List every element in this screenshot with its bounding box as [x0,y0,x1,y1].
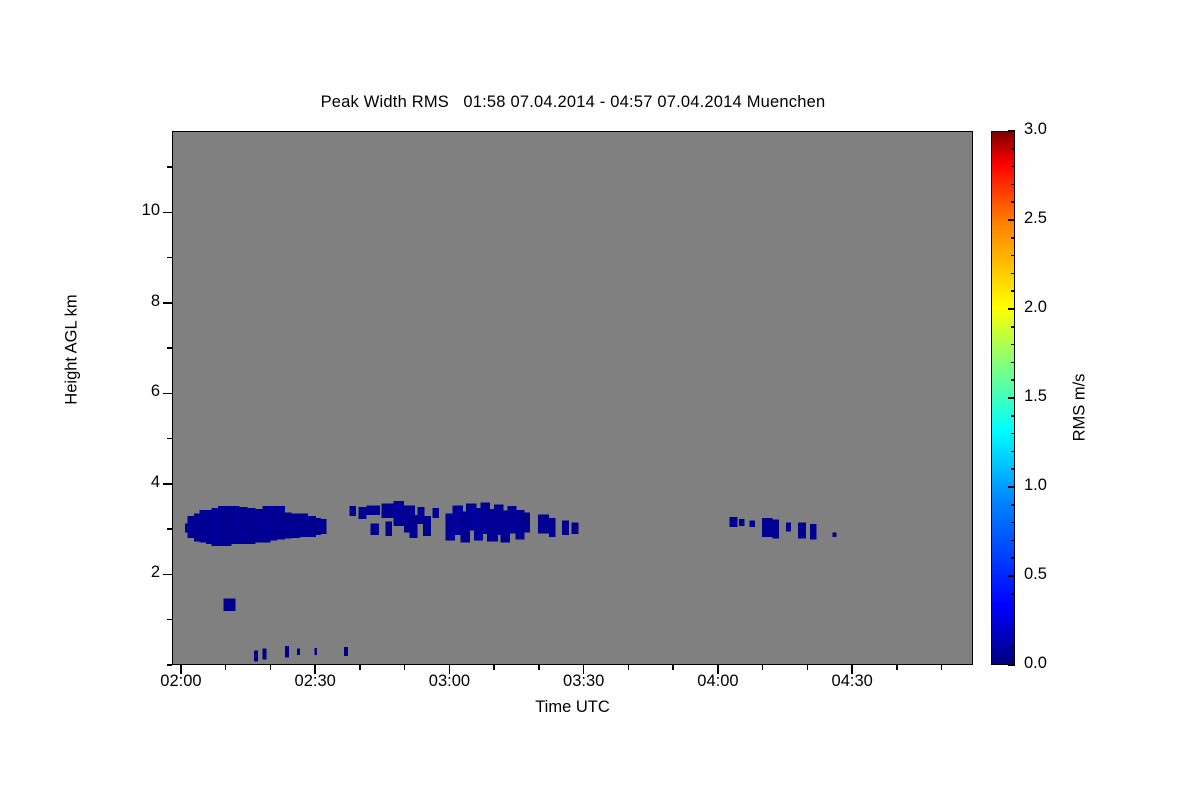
heatmap-cell [297,649,300,655]
y-tick-major [163,212,172,214]
x-tick-label: 02:00 [136,672,226,691]
colorbar-tick-minor [1011,593,1015,595]
heatmap-cell [762,518,773,537]
colorbar-tick-minor [1011,362,1015,364]
colorbar-tick-minor [1011,273,1015,275]
heatmap-data-layer [173,132,972,664]
x-tick-minor [359,665,361,670]
x-tick-minor [672,665,674,670]
colorbar-tick-minor [1011,646,1015,648]
heatmap-cell [423,516,431,536]
colorbar-tick-minor [1011,611,1015,613]
y-tick-label: 8 [100,292,160,311]
colorbar-tick-minor [1011,290,1015,292]
heatmap-cell [507,506,516,533]
colorbar-tick-major [1008,308,1015,310]
colorbar-tick-label: 1.5 [1024,387,1047,406]
heatmap-cell [344,647,348,656]
y-tick-minor [167,664,172,666]
y-tick-minor [167,166,172,168]
colorbar-tick-label: 3.0 [1024,120,1047,139]
y-tick-minor [167,347,172,349]
heatmap-cell [349,506,356,516]
y-tick-label: 6 [100,382,160,401]
y-tick-label: 10 [100,201,160,220]
heatmap-cell [572,522,579,534]
y-tick-minor [167,257,172,259]
y-axis-label: Height AGL km [63,240,82,460]
plot-area [172,131,973,665]
x-tick-minor [807,665,809,670]
x-tick-minor [493,665,495,670]
heatmap-cell [262,649,266,660]
colorbar-tick-minor [1011,201,1015,203]
x-tick-minor [628,665,630,670]
page-title: Peak Width RMS 01:58 07.04.2014 - 04:57 … [0,93,1146,112]
colorbar-tick-minor [1011,629,1015,631]
heatmap-cell [359,507,367,519]
x-tick-minor [941,665,943,670]
x-tick-label: 03:30 [539,672,629,691]
x-tick-label: 04:00 [673,672,763,691]
x-axis-label: Time UTC [172,698,973,717]
x-tick-label: 02:30 [270,672,360,691]
heatmap-cell [432,508,439,518]
figure-canvas: Peak Width RMS 01:58 07.04.2014 - 04:57 … [0,0,1200,800]
colorbar-tick-label: 1.0 [1024,476,1047,495]
heatmap-cell [739,519,744,526]
colorbar-tick-minor [1011,237,1015,239]
colorbar-tick-minor [1011,504,1015,506]
y-tick-minor [167,619,172,621]
heatmap-cell [549,518,556,537]
heatmap-cell [381,503,393,517]
heatmap-cell [562,521,569,535]
colorbar-tick-label: 2.0 [1024,298,1047,317]
colorbar-tick-minor [1011,522,1015,524]
colorbar-tick-label: 0.5 [1024,565,1047,584]
y-tick-major [163,483,172,485]
heatmap-cell [730,517,738,527]
colorbar-tick-major [1008,664,1015,666]
heatmap-cell [750,521,755,527]
y-tick-major [163,393,172,395]
x-tick-label: 04:30 [807,672,897,691]
colorbar-tick-minor [1011,451,1015,453]
heatmap-cell [371,523,379,535]
y-tick-label: 4 [100,473,160,492]
colorbar-tick-minor [1011,184,1015,186]
heatmap-cell [393,501,404,526]
heatmap-cell [223,599,235,611]
colorbar-tick-minor [1011,344,1015,346]
x-tick-minor [762,665,764,670]
colorbar-tick-minor [1011,166,1015,168]
x-tick-minor [538,665,540,670]
heatmap-cell [833,532,837,537]
y-tick-major [163,574,172,576]
heatmap-cell [385,522,392,536]
colorbar-tick-major [1008,219,1015,221]
heatmap-cell [410,515,418,538]
heatmap-cell [308,519,327,534]
heatmap-cell [522,513,530,533]
colorbar-tick-minor [1011,255,1015,257]
colorbar-tick-label: 2.5 [1024,209,1047,228]
heatmap-cell [798,522,806,538]
heatmap-cell [772,520,779,539]
heatmap-cell [786,522,791,531]
colorbar-tick-minor [1011,326,1015,328]
colorbar-tick-minor [1011,557,1015,559]
colorbar-tick-major [1008,486,1015,488]
y-tick-minor [167,528,172,530]
heatmap-cell [254,650,258,661]
y-tick-major [163,302,172,304]
x-tick-label: 03:00 [404,672,494,691]
x-tick-minor [270,665,272,670]
colorbar-tick-major [1008,130,1015,132]
x-tick-minor [896,665,898,670]
colorbar-tick-minor [1011,415,1015,417]
x-tick-minor [225,665,227,670]
x-tick-minor [404,665,406,670]
colorbar-tick-minor [1011,433,1015,435]
y-tick-label: 2 [100,563,160,582]
heatmap-cell [314,648,317,655]
colorbar-tick-minor [1011,468,1015,470]
heatmap-cell [285,646,289,658]
colorbar-tick-label: 0.0 [1024,654,1047,673]
heatmap-cell [367,505,380,515]
colorbar-tick-minor [1011,148,1015,150]
heatmap-cell [538,514,549,533]
y-tick-minor [167,438,172,440]
colorbar-tick-minor [1011,540,1015,542]
colorbar-label: RMS m/s [1071,308,1090,508]
colorbar-tick-major [1008,575,1015,577]
colorbar-tick-minor [1011,379,1015,381]
colorbar-tick-major [1008,397,1015,399]
heatmap-cell [810,524,817,539]
